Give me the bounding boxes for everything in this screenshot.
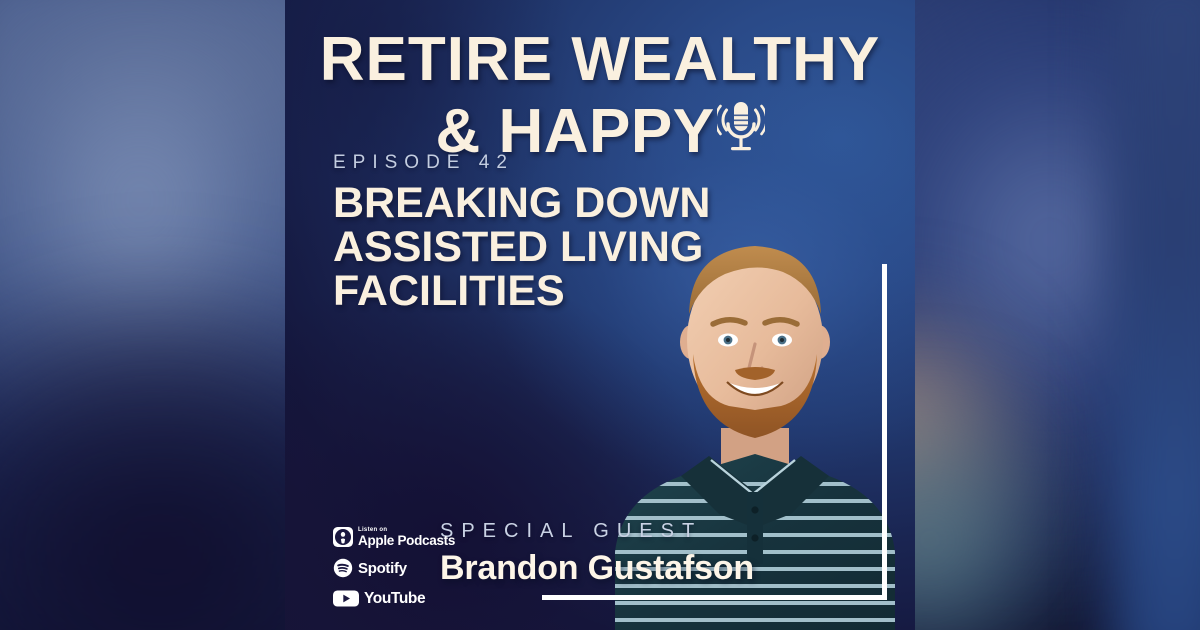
guest-name: Brandon Gustafson	[440, 549, 780, 588]
spotify-icon	[333, 558, 353, 578]
apple-podcasts-label: Apple Podcasts	[358, 534, 455, 548]
show-title: RETIRE WEALTHY & HAPPY	[285, 30, 915, 170]
apple-podcasts-label-group: Listen on Apple Podcasts	[358, 527, 455, 548]
apple-podcasts-icon	[333, 527, 353, 547]
guest-block: SPECIAL GUEST Brandon Gustafson	[440, 520, 780, 588]
spotify-label-group: Spotify	[358, 561, 407, 576]
guest-label: SPECIAL GUEST	[440, 520, 780, 543]
show-title-line-1: RETIRE WEALTHY	[285, 30, 915, 91]
youtube-label-group: YouTube	[364, 591, 425, 607]
episode-label: EPISODE 42	[333, 152, 753, 174]
backdrop-right-edge	[1110, 0, 1200, 630]
frame-vertical-line	[882, 264, 887, 600]
youtube-label: YouTube	[364, 591, 425, 607]
badge-spotify[interactable]: Spotify	[333, 558, 455, 578]
badge-youtube[interactable]: YouTube	[333, 589, 455, 608]
badge-apple-podcasts[interactable]: Listen on Apple Podcasts	[333, 527, 455, 548]
youtube-icon	[333, 589, 359, 608]
frame-horizontal-line	[542, 595, 887, 600]
podcast-cover-screenshot: RETIRE WEALTHY & HAPPY	[0, 0, 1200, 630]
platform-badges: Listen on Apple Podcasts Spotify	[333, 527, 455, 609]
spotify-label: Spotify	[358, 561, 407, 576]
apple-podcasts-eyebrow: Listen on	[358, 527, 455, 533]
cover-card: RETIRE WEALTHY & HAPPY	[285, 0, 915, 630]
